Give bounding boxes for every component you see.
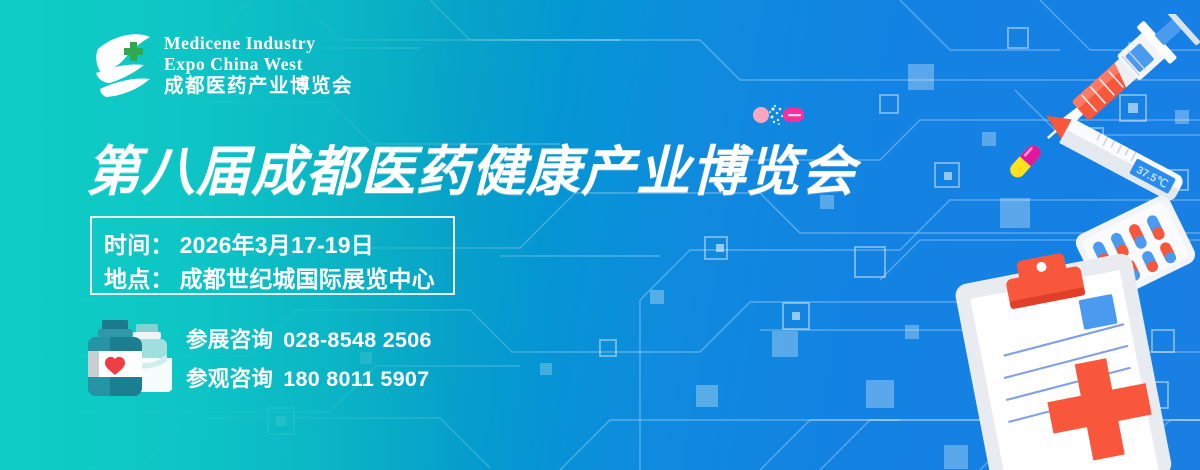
visitor-label: 参观咨询 (186, 367, 273, 391)
medical-clipboard-icon (942, 246, 1200, 470)
event-date-value: 2026年3月17-19日 (180, 232, 374, 258)
red-cross-icon (1041, 352, 1158, 467)
event-venue-label: 地点： (104, 266, 174, 292)
event-info-box: 时间：2026年3月17-19日 地点：成都世纪城国际展览中心 (90, 216, 455, 295)
contact-lines: 参展咨询028-8548 2506 参观咨询180 8011 5907 (186, 323, 432, 393)
contact-block: 参展咨询028-8548 2506 参观咨询180 8011 5907 (86, 318, 432, 398)
syringe-icon (1024, 14, 1200, 164)
pill-blister-pack-icon (1070, 190, 1200, 310)
event-venue-row: 地点：成都世纪城国际展览中心 (104, 260, 435, 294)
logo-text-block: Medicene Industry Expo China West 成都医药产业… (164, 35, 353, 97)
thermometer-reading: 37.5℃ (1134, 164, 1169, 190)
expo-banner: 37.5℃ (0, 0, 1200, 470)
logo-english-line2: Expo China West (164, 56, 353, 74)
digital-thermometer-icon: 37.5℃ (1026, 104, 1200, 224)
leaf-swoosh-cross-logo (92, 33, 154, 99)
event-date-label: 时间： (104, 232, 174, 258)
event-venue-value: 成都世纪城国际展览中心 (180, 266, 435, 292)
exhibitor-label: 参展咨询 (186, 328, 273, 352)
dissolving-capsule-icon (752, 100, 806, 130)
logo-chinese-name: 成都医药产业博览会 (164, 77, 353, 97)
medicine-bottles-icon (86, 318, 172, 398)
contact-row-visitor: 参观咨询180 8011 5907 (186, 362, 432, 393)
expo-logo[interactable]: Medicene Industry Expo China West 成都医药产业… (92, 33, 353, 99)
exhibitor-phone: 028-8548 2506 (283, 328, 432, 352)
event-date-row: 时间：2026年3月17-19日 (104, 226, 374, 260)
page-title: 第八届成都医药健康产业博览会 (86, 127, 856, 206)
clipboard-clip (1002, 250, 1085, 310)
visitor-phone: 180 8011 5907 (283, 367, 429, 391)
logo-english-line1: Medicene Industry (164, 35, 353, 53)
capsule-pill-icon (1002, 138, 1048, 184)
contact-row-exhibitor: 参展咨询028-8548 2506 (186, 323, 432, 354)
